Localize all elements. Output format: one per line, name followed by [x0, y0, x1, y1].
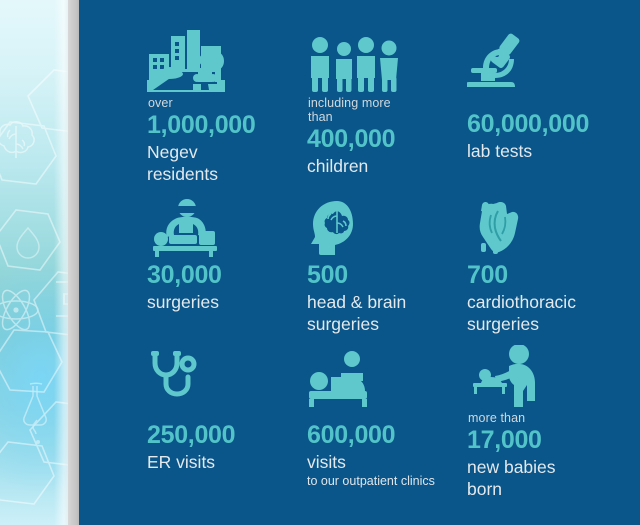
atom-icon	[0, 286, 38, 333]
stat-children: including more than 400,000 children	[307, 28, 467, 199]
stat-figure: 250,000	[147, 421, 307, 450]
brain-icon	[0, 122, 34, 158]
stat-label-line1: cardiothoracic	[467, 292, 576, 312]
stat-negev-residents: over 1,000,000 Negev residents	[147, 28, 307, 199]
stat-eyebrow-line2: than	[308, 110, 333, 124]
stethoscope-icon	[147, 351, 307, 407]
stat-label: ER visits	[147, 451, 307, 473]
stat-figure: 60,000,000	[467, 110, 627, 139]
water-drop-icon	[17, 228, 39, 258]
stat-er-visits: 250,000 ER visits	[147, 351, 307, 511]
heart-icon	[467, 199, 627, 257]
stat-surgeries: 30,000 surgeries	[147, 199, 307, 351]
stat-eyebrow: over	[148, 96, 307, 110]
stat-label-line2: born	[467, 479, 502, 499]
head-brain-icon	[307, 199, 467, 257]
stat-label-line1: new babies	[467, 457, 556, 477]
stat-label-line2: residents	[147, 164, 218, 184]
microscope-icon	[467, 28, 627, 92]
stat-eyebrow-line1: including more	[308, 96, 391, 110]
stat-label-line2: surgeries	[307, 314, 379, 334]
stat-label: head & brain surgeries	[307, 291, 467, 335]
stat-figure: 500	[307, 261, 467, 290]
stat-figure: 700	[467, 261, 627, 290]
stat-label: new babies born	[467, 456, 627, 500]
stat-eyebrow: more than	[468, 411, 627, 425]
stat-label: cardiothoracic surgeries	[467, 291, 627, 335]
stat-label: surgeries	[147, 291, 307, 313]
stat-figure: 600,000	[307, 421, 467, 450]
stat-label: children	[307, 155, 467, 177]
family-group-icon	[307, 28, 467, 92]
cityscape-people-icon	[147, 28, 307, 92]
stat-outpatient-visits: 600,000 visits to our outpatient clinics	[307, 351, 467, 511]
stat-label: lab tests	[467, 140, 627, 162]
stat-figure: 30,000	[147, 261, 307, 290]
stat-cardiothoracic-surgeries: 700 cardiothoracic surgeries	[467, 199, 627, 351]
infographic-slide: over 1,000,000 Negev residents	[0, 0, 640, 525]
stat-new-babies-born: more than 17,000 new babies born	[467, 351, 627, 511]
stat-label-line1: head & brain	[307, 292, 406, 312]
stat-label-line1: Negev	[147, 142, 198, 162]
stat-label-line2: surgeries	[467, 314, 539, 334]
stat-label: visits	[307, 451, 467, 473]
decorative-sidebar	[0, 0, 68, 525]
stats-row: 250,000 ER visits	[147, 351, 635, 511]
rail-edge-highlight	[54, 0, 68, 525]
stats-panel: over 1,000,000 Negev residents	[79, 0, 640, 525]
stat-label: Negev residents	[147, 141, 307, 185]
nurse-baby-icon	[467, 351, 627, 407]
surgeon-patient-icon	[147, 199, 307, 257]
panel-divider	[68, 0, 79, 525]
stat-lab-tests: 60,000,000 lab tests	[467, 28, 627, 199]
patient-bed-icon	[307, 351, 467, 407]
stat-sublabel: to our outpatient clinics	[307, 474, 467, 489]
stat-head-brain-surgeries: 500 head & brain surgeries	[307, 199, 467, 351]
stat-figure: 17,000	[467, 426, 627, 455]
stats-row: over 1,000,000 Negev residents	[147, 28, 635, 199]
stats-row: 30,000 surgeries	[147, 199, 635, 351]
stats-grid: over 1,000,000 Negev residents	[147, 28, 635, 511]
stat-figure: 1,000,000	[147, 111, 307, 140]
stat-eyebrow: including more than	[308, 96, 467, 124]
stat-figure: 400,000	[307, 125, 467, 154]
